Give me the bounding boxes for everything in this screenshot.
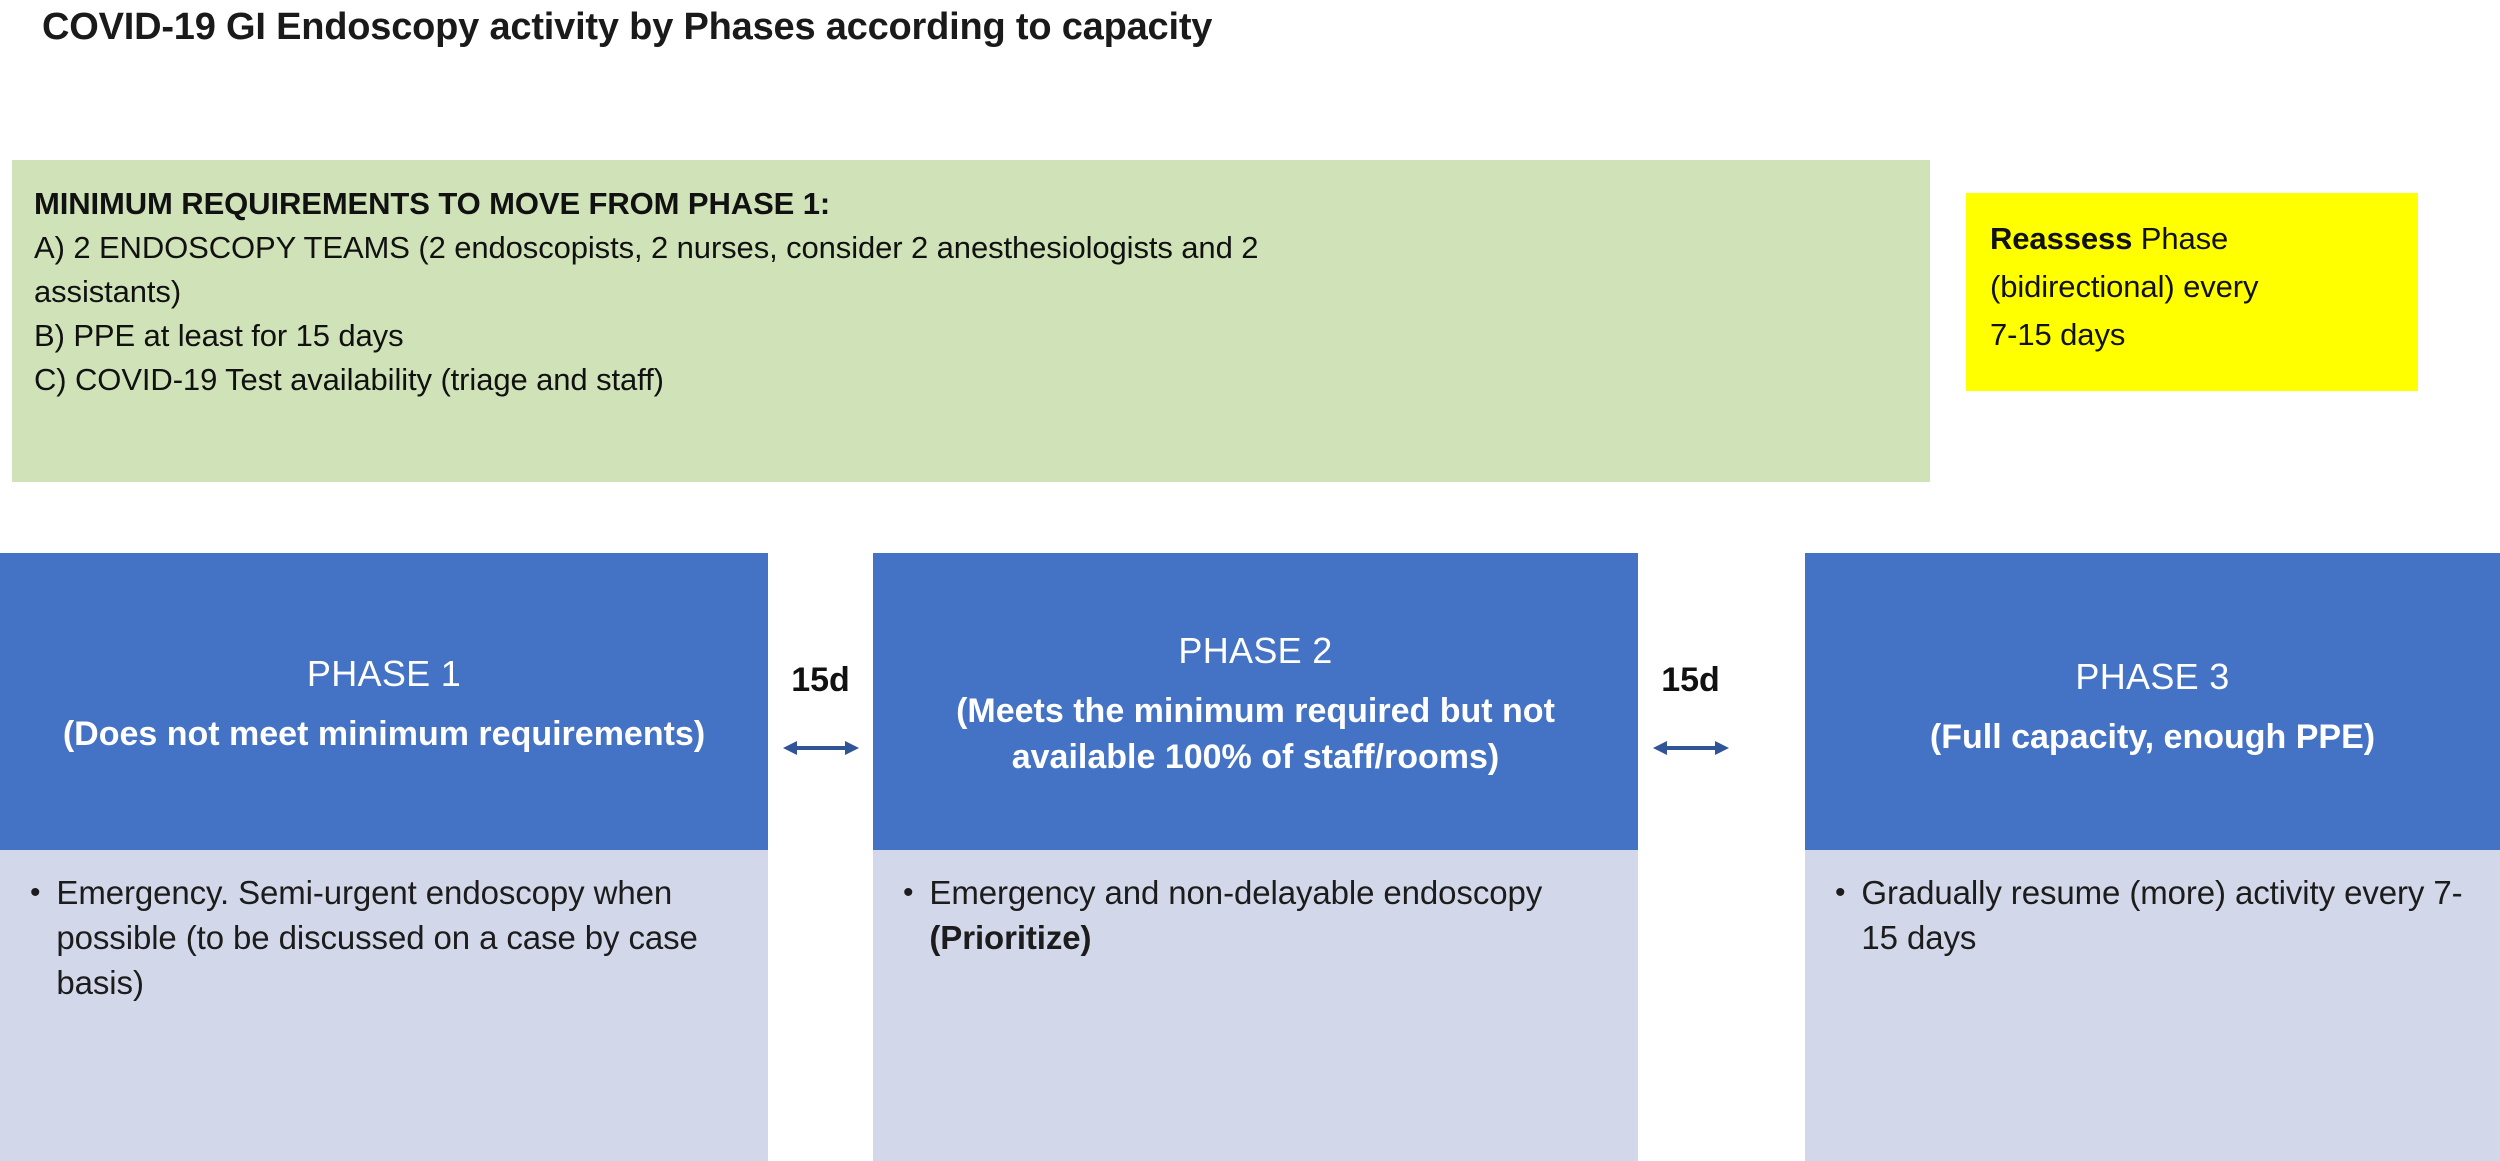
connector-2-label: 15d: [1661, 660, 1720, 700]
connector-phase2-phase3: 15d: [1638, 660, 1743, 760]
bidirectional-arrow-icon: [1651, 736, 1731, 760]
requirement-item-c: C) COVID-19 Test availability (triage an…: [34, 358, 1904, 402]
phase-3-header: PHASE 3 (Full capacity, enough PPE): [1805, 553, 2500, 850]
phase-1-name: PHASE 1: [307, 647, 461, 701]
page-title: COVID-19 GI Endoscopy activity by Phases…: [42, 6, 1212, 49]
reassess-line-1-rest: Phase: [2132, 221, 2228, 256]
reassess-note-line-3: 7-15 days: [1990, 311, 2398, 359]
phase-2-name: PHASE 2: [1178, 624, 1332, 678]
reassess-note-line-1: Reassess Phase: [1990, 215, 2398, 263]
connector-1-label: 15d: [791, 660, 850, 700]
phase-3-body: • Gradually resume (more) activity every…: [1805, 850, 2500, 1161]
phase-1-description: (Does not meet minimum requirements): [63, 711, 705, 757]
requirement-item-a-continued: assistants): [34, 270, 1904, 314]
phase-2-body: • Emergency and non-delayable endoscopy …: [873, 850, 1638, 1161]
phase-2-bullet-text: Emergency and non-delayable endoscopy (P…: [929, 870, 1612, 960]
requirement-item-a: A) 2 ENDOSCOPY TEAMS (2 endoscopists, 2 …: [34, 226, 1904, 270]
phase-card-3[interactable]: PHASE 3 (Full capacity, enough PPE) • Gr…: [1805, 553, 2500, 1161]
phase-3-bullet-text: Gradually resume (more) activity every 7…: [1861, 870, 2474, 960]
phase-3-bullet: • Gradually resume (more) activity every…: [1835, 870, 2474, 960]
phase-1-bullet-text: Emergency. Semi-urgent endoscopy when po…: [56, 870, 742, 1005]
phase-card-2[interactable]: PHASE 2 (Meets the minimum required but …: [873, 553, 1638, 1161]
phase-2-bullet: • Emergency and non-delayable endoscopy …: [903, 870, 1612, 960]
phase-2-bullet-plain: Emergency and non-delayable endoscopy: [929, 874, 1542, 911]
phase-1-body: • Emergency. Semi-urgent endoscopy when …: [0, 850, 768, 1161]
phase-1-header: PHASE 1 (Does not meet minimum requireme…: [0, 553, 768, 850]
phase-2-description: (Meets the minimum required but not avai…: [891, 688, 1620, 780]
reassess-keyword: Reassess: [1990, 221, 2132, 256]
phase-2-header: PHASE 2 (Meets the minimum required but …: [873, 553, 1638, 850]
bullet-dot-icon: •: [30, 870, 40, 915]
phase-card-1[interactable]: PHASE 1 (Does not meet minimum requireme…: [0, 553, 768, 1161]
requirement-item-b: B) PPE at least for 15 days: [34, 314, 1904, 358]
bidirectional-arrow-icon: [781, 736, 861, 760]
requirements-heading: MINIMUM REQUIREMENTS TO MOVE FROM PHASE …: [34, 182, 1904, 226]
phase-2-bullet-emphasis: (Prioritize): [929, 919, 1091, 956]
phase-3-name: PHASE 3: [2075, 650, 2229, 704]
phase-1-bullet: • Emergency. Semi-urgent endoscopy when …: [30, 870, 742, 1005]
connector-phase1-phase2: 15d: [768, 660, 873, 760]
phase-3-description: (Full capacity, enough PPE): [1930, 714, 2375, 760]
bullet-dot-icon: •: [903, 870, 913, 915]
reassess-note: Reassess Phase (bidirectional) every 7-1…: [1966, 193, 2418, 391]
minimum-requirements-panel: MINIMUM REQUIREMENTS TO MOVE FROM PHASE …: [12, 160, 1930, 482]
reassess-note-line-2: (bidirectional) every: [1990, 263, 2398, 311]
bullet-dot-icon: •: [1835, 870, 1845, 915]
